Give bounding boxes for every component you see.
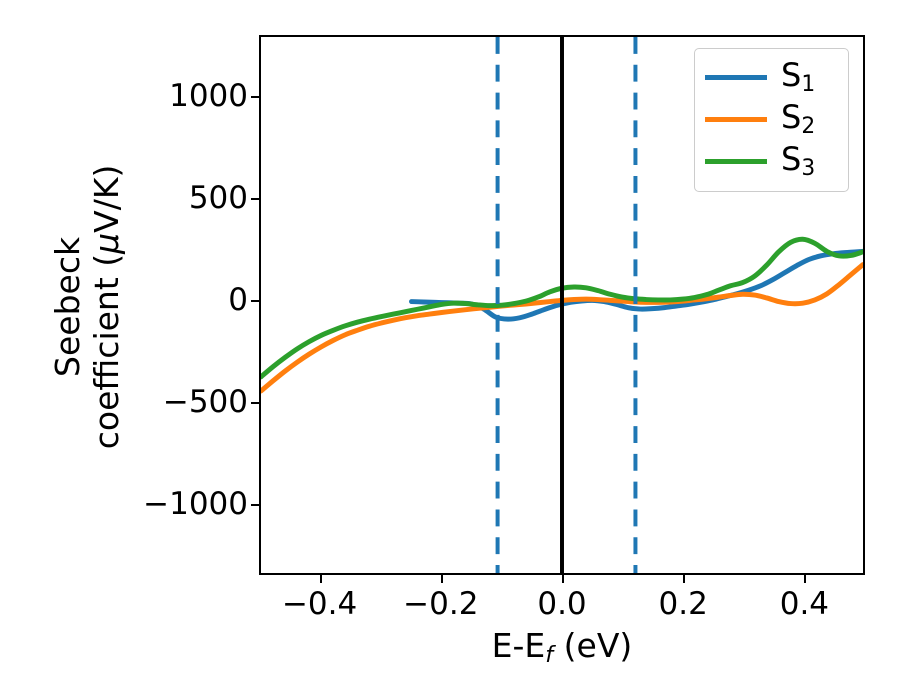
- legend-item-label: S1: [781, 59, 815, 96]
- y-axis-title-line1: Seebeck: [49, 47, 88, 567]
- x-axis-title-subscript: f: [545, 642, 553, 668]
- y-axis-tick-mark: [251, 402, 259, 404]
- x-axis-tick-label: −0.2: [403, 586, 478, 622]
- legend-color-swatch: [705, 159, 767, 164]
- x-axis-tick-mark: [320, 575, 322, 583]
- legend-item-subscript: 3: [801, 156, 815, 181]
- x-axis-tick-mark: [804, 575, 806, 583]
- y-axis-tick-label: 500: [189, 180, 248, 216]
- y-axis-tick-mark: [251, 198, 259, 200]
- x-axis-tick-label: −0.4: [282, 586, 357, 622]
- x-axis-tick-label: 0.2: [659, 586, 708, 622]
- chart-figure: −1000−50005001000 Seebeck coefficient (μ…: [0, 0, 900, 700]
- legend-item[interactable]: S1: [705, 56, 838, 98]
- x-axis-tick-mark: [683, 575, 685, 583]
- legend-item-label: S3: [781, 143, 815, 180]
- x-axis-title-post: (eV): [553, 626, 632, 665]
- y-axis-tick-mark: [251, 504, 259, 506]
- y-axis-tick-label: −500: [163, 384, 248, 420]
- legend-item-subscript: 1: [801, 72, 815, 97]
- y-axis-title-line2: coefficient (μV/K): [88, 47, 127, 567]
- y-axis-tick-mark: [251, 300, 259, 302]
- x-axis-tick-label: 0.4: [780, 586, 829, 622]
- y-axis-tick-label: 0: [228, 282, 248, 318]
- legend-color-swatch: [705, 117, 767, 122]
- x-axis-title: E-Ef (eV): [259, 626, 865, 668]
- x-axis-tick-mark: [441, 575, 443, 583]
- y-axis-tick-mark: [251, 96, 259, 98]
- legend-item-subscript: 2: [801, 114, 815, 139]
- y-axis-title-line2-pre: coefficient (: [87, 254, 126, 449]
- x-axis-title-pre: E-E: [492, 626, 546, 665]
- legend-item[interactable]: S2: [705, 98, 838, 140]
- x-axis-tick-mark: [562, 575, 564, 583]
- y-axis-title-line2-post: V/K): [87, 165, 126, 233]
- chart-legend: S1S2S3: [694, 48, 849, 192]
- legend-color-swatch: [705, 75, 767, 80]
- y-axis-tick-label: 1000: [169, 78, 248, 114]
- x-axis-tick-label: 0.0: [537, 586, 586, 622]
- y-axis-tick-label: −1000: [143, 486, 248, 522]
- y-axis-title: Seebeck coefficient (μV/K): [49, 47, 127, 567]
- legend-item[interactable]: S3: [705, 140, 838, 182]
- y-axis-title-mu-symbol: μ: [87, 233, 126, 254]
- legend-item-label: S2: [781, 101, 815, 138]
